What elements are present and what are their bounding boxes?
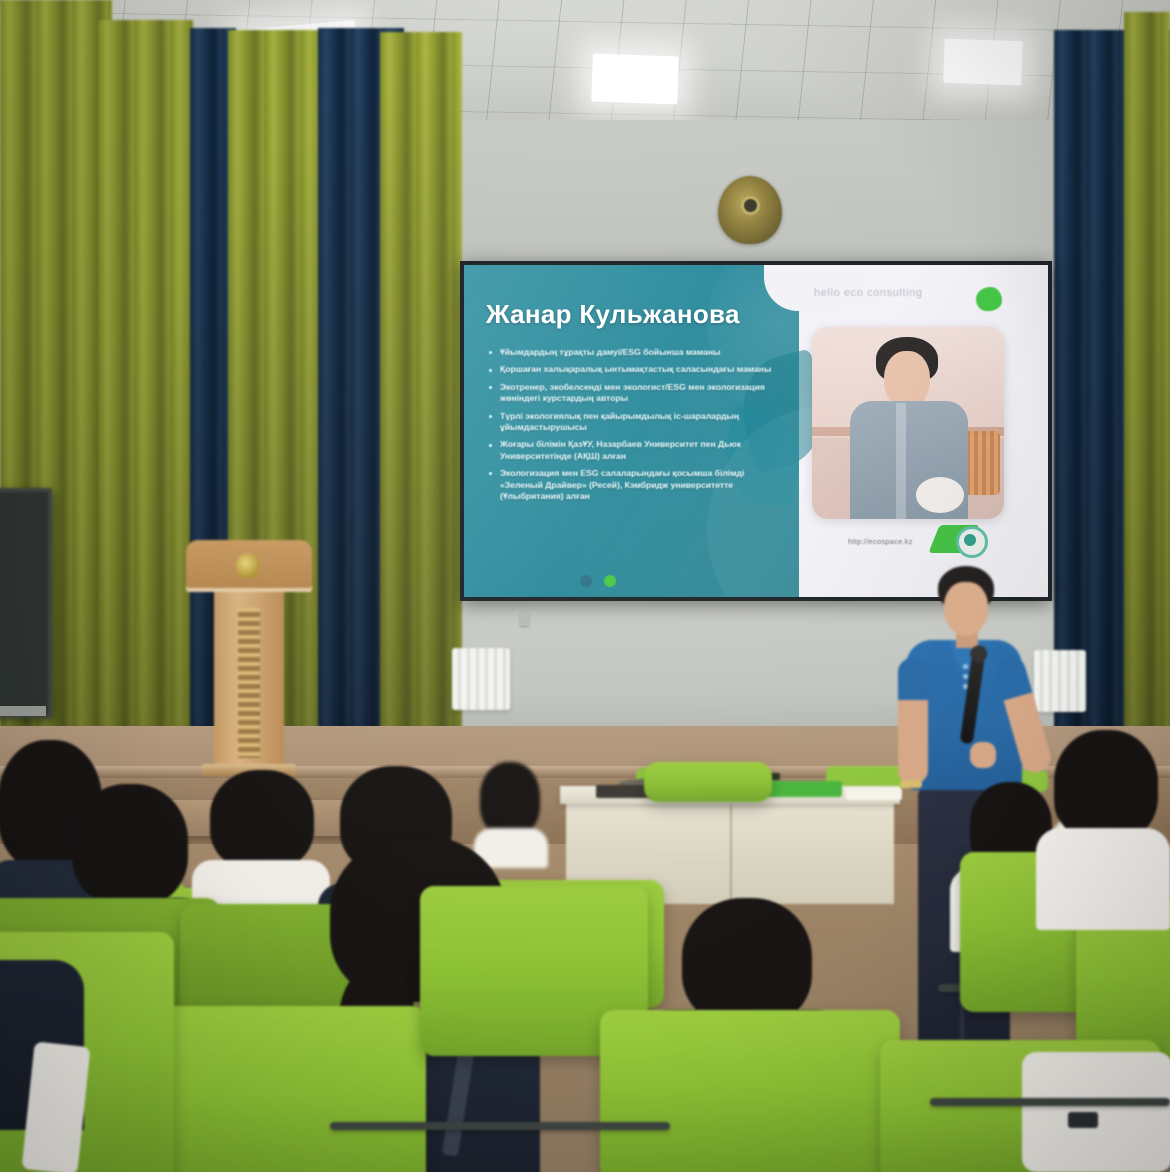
list-item: Қоршаған халықаралық ынтымақтастық салас… xyxy=(488,364,778,375)
chair-rail-4 xyxy=(330,1122,670,1130)
audience-chair-r2-4[interactable] xyxy=(644,762,772,802)
list-item: Жоғары білімін ҚазҰУ, Назарбаев Универси… xyxy=(488,439,778,462)
ceiling-light-2 xyxy=(591,54,679,105)
slide-bullet-list: Ұйымдардың тұрақты дамуі/ESG бойынша мам… xyxy=(488,347,778,508)
dot-active[interactable] xyxy=(604,575,616,587)
audience-person-10 xyxy=(0,960,84,1172)
olive-curtain-left-2 xyxy=(98,20,193,790)
wall-monitor-shelf xyxy=(0,706,46,716)
audience-chair-front-4[interactable] xyxy=(600,1010,900,1172)
dot-inactive[interactable] xyxy=(580,575,592,587)
speaker-portrait-photo xyxy=(812,327,1004,519)
wooden-lectern xyxy=(186,540,312,780)
audience-person-8 xyxy=(1036,730,1170,930)
table-item-green-folder xyxy=(766,781,842,797)
state-emblem-icon xyxy=(718,176,782,244)
ecospace-logo-icon xyxy=(934,523,990,555)
wristwatch-icon xyxy=(900,780,922,788)
ceiling-light-3 xyxy=(943,39,1022,86)
lectern-emblem-icon xyxy=(236,553,260,579)
radiator-left xyxy=(452,648,510,710)
slide-title: Жанар Кульжанова xyxy=(486,299,786,330)
lectern-ornament-icon xyxy=(238,608,260,758)
audience-chair-front-1[interactable] xyxy=(146,1006,426,1172)
projector-mount-icon xyxy=(520,613,529,626)
chair-rail-3 xyxy=(930,1098,1170,1106)
presentation-slide: Жанар Кульжанова Ұйымдардың тұрақты даму… xyxy=(464,265,1048,597)
projection-screen: Жанар Кульжанова Ұйымдардың тұрақты даму… xyxy=(460,261,1052,601)
site-url[interactable]: http://ecospace.kz xyxy=(848,537,913,546)
brand-tagline: hello eco consulting xyxy=(814,287,923,299)
list-item: Экотренер, экобелсенді мен экологист/ESG… xyxy=(488,382,778,405)
wall-monitor-left xyxy=(0,488,52,718)
olive-curtain-far-right xyxy=(1124,12,1170,782)
phone-icon xyxy=(1068,1112,1098,1128)
audience-person-12 xyxy=(1022,1052,1170,1172)
list-item: Ұйымдардың тұрақты дамуі/ESG бойынша мам… xyxy=(488,347,778,358)
auditorium-scene: Жанар Кульжанова Ұйымдардың тұрақты даму… xyxy=(0,0,1170,1172)
green-blob-icon xyxy=(976,287,1002,311)
olive-curtain-right xyxy=(380,32,462,774)
list-item: Түрлі экологиялық пен қайырымдылық іс-ша… xyxy=(488,411,778,434)
slide-pagination[interactable] xyxy=(580,575,616,587)
radiator-right xyxy=(1034,650,1086,712)
list-item: Экологизация мен ESG салаларындағы қосым… xyxy=(488,468,778,502)
